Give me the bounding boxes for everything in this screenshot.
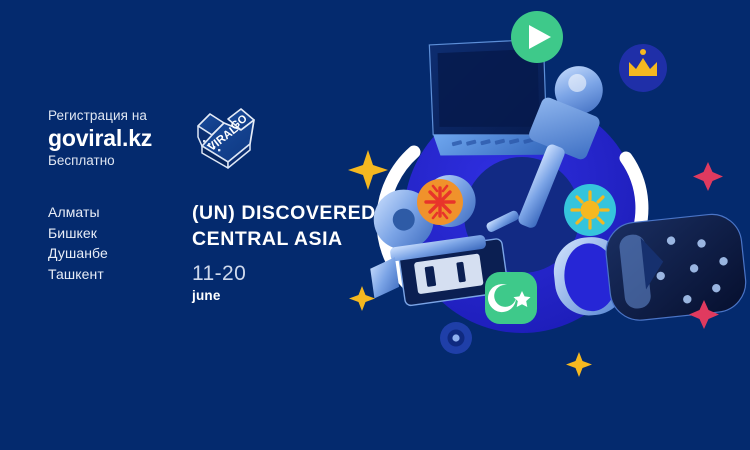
promo-banner: Регистрация на goviral.kz Бесплатно Алма…	[0, 0, 750, 450]
crescent-badge-icon	[485, 272, 537, 324]
starburst-badge-icon	[417, 179, 463, 225]
crown-badge-icon	[619, 44, 667, 92]
city-item: Бишкек	[48, 223, 198, 244]
eye-motif-icon	[440, 322, 472, 354]
city-item: Алматы	[48, 202, 198, 223]
city-item: Ташкент	[48, 264, 198, 285]
go-viral-logo[interactable]: GO VIRAL	[188, 100, 264, 172]
sun-badge-icon	[564, 184, 616, 236]
city-item: Душанбе	[48, 243, 198, 264]
event-dates: 11-20 june	[192, 262, 246, 303]
hero-artwork	[330, 0, 750, 450]
date-range: 11-20	[192, 262, 246, 285]
sparkle-crimson-top-icon	[693, 162, 723, 191]
sparkle-gold-top-icon	[348, 150, 388, 190]
date-month: june	[192, 288, 246, 303]
play-badge-icon	[511, 11, 563, 63]
cities-list: Алматы Бишкек Душанбе Ташкент	[48, 202, 198, 284]
sparkle-gold-bottom-icon	[566, 352, 592, 377]
sparkle-gold-mid-icon	[349, 286, 375, 311]
